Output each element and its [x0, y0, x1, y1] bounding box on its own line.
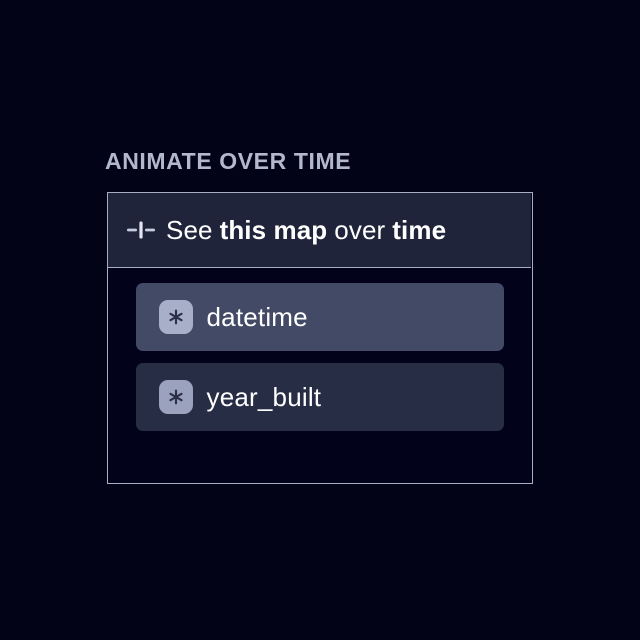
list-item[interactable]: datetime: [136, 283, 504, 351]
time-field-option-list: datetime year_built: [108, 269, 531, 482]
page-title: ANIMATE OVER TIME: [105, 147, 351, 175]
animate-over-time-header-row[interactable]: Seethis mapovertime: [108, 193, 531, 268]
animate-over-time-panel: Seethis mapovertime datetime: [107, 192, 533, 484]
list-item-label: datetime: [207, 302, 308, 332]
list-item-label: year_built: [207, 382, 322, 412]
header-text-emphasis-two: time: [392, 215, 446, 245]
header-text-prefix: See: [166, 215, 213, 245]
timeline-slider-icon: [124, 213, 158, 247]
header-text-middle: over: [334, 215, 385, 245]
list-item[interactable]: year_built: [136, 363, 504, 431]
animate-over-time-panel-root: ANIMATE OVER TIME Seethis mapovertime: [0, 0, 640, 640]
animate-over-time-header-label: Seethis mapovertime: [166, 215, 446, 245]
header-text-emphasis-one: this map: [220, 215, 328, 245]
asterisk-field-icon: [159, 300, 193, 334]
asterisk-field-icon: [159, 380, 193, 414]
